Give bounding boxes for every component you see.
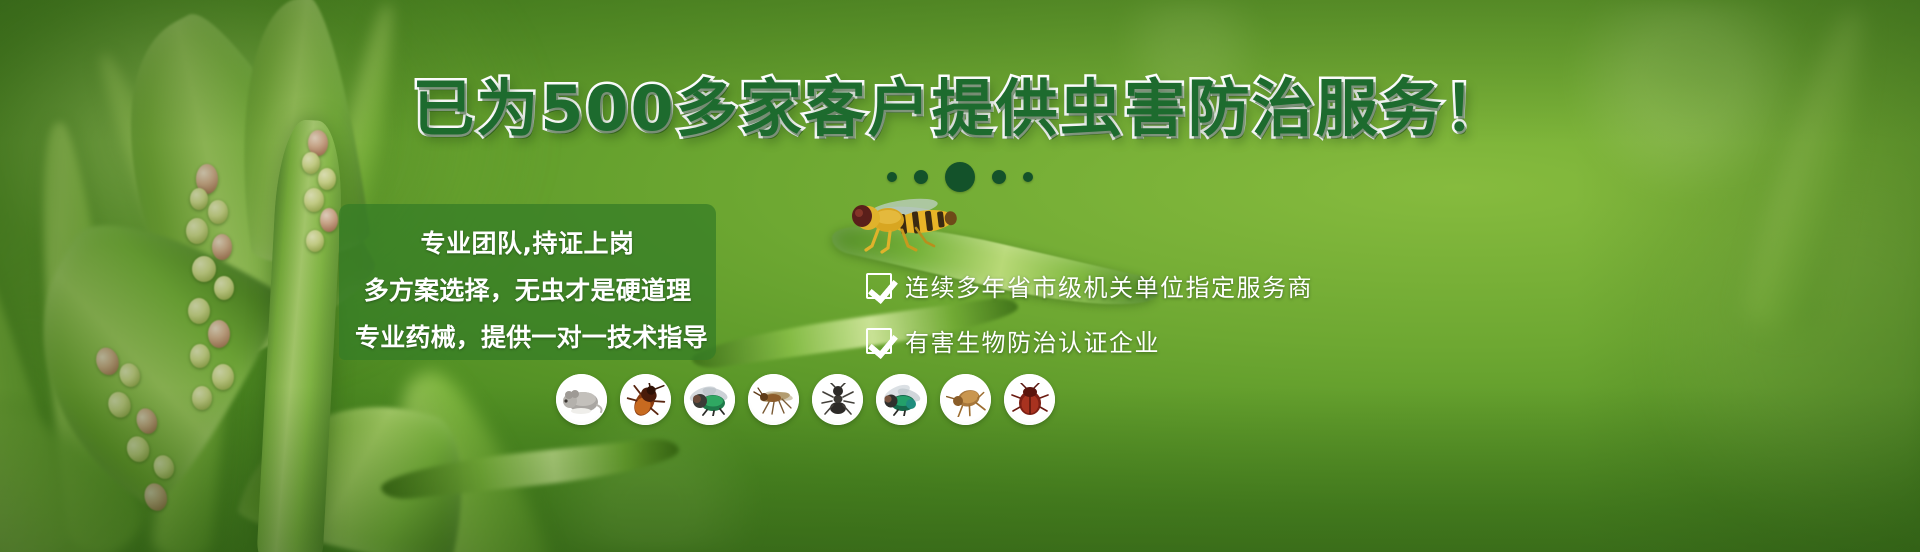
checkbox-checked-icon: [866, 328, 892, 354]
claim-row: 连续多年省市级机关单位指定服务商: [866, 268, 1313, 303]
selling-point-line-1: 专业团队,持证上岗: [355, 224, 700, 260]
pest-circle-ant[interactable]: [812, 374, 863, 425]
promo-banner: 已为500多家客户提供虫害防治服务！ 专业团队,持证上岗 多方案选择，无虫才是硬…: [0, 0, 1920, 552]
claim-text: 有害生物防治认证企业: [905, 323, 1160, 358]
pest-circle-blowfly[interactable]: [684, 374, 735, 425]
dot-small-left: [887, 172, 897, 182]
dot-small-right: [1023, 172, 1033, 182]
pest-circle-cockroach[interactable]: [620, 374, 671, 425]
blowfly-icon: [689, 384, 731, 416]
pest-circle-greenbottle-fly[interactable]: [876, 374, 927, 425]
pest-circle-flea[interactable]: [940, 374, 991, 425]
claims-list: 连续多年省市级机关单位指定服务商 有害生物防治认证企业: [866, 268, 1313, 358]
pest-circle-mouse[interactable]: [556, 374, 607, 425]
banner-headline: 已为500多家客户提供虫害防治服务！: [0, 78, 1920, 140]
pest-circle-mosquito[interactable]: [748, 374, 799, 425]
pest-circle-bedbug[interactable]: [1004, 374, 1055, 425]
checkbox-checked-icon: [866, 273, 892, 299]
decorative-dot-row: [0, 162, 1920, 192]
greenbottle-fly-icon: [881, 384, 923, 416]
pest-icon-row: [556, 374, 1055, 425]
hoverfly-icon: [838, 194, 968, 256]
claim-text: 连续多年省市级机关单位指定服务商: [905, 268, 1313, 303]
selling-point-line-2: 多方案选择，无虫才是硬道理: [355, 271, 700, 307]
selling-points-panel: 专业团队,持证上岗 多方案选择，无虫才是硬道理 专业药械，提供一对一技术指导: [339, 204, 716, 360]
claim-row: 有害生物防治认证企业: [866, 323, 1313, 358]
dot-medium-left: [914, 170, 928, 184]
dot-medium-right: [992, 170, 1006, 184]
mouse-icon: [561, 385, 603, 415]
banner-headline-text: 已为500多家客户提供虫害防治服务！: [412, 78, 1507, 140]
dot-large-center: [945, 162, 975, 192]
mosquito-icon: [753, 384, 795, 416]
cockroach-icon: [626, 383, 666, 417]
selling-point-line-3: 专业药械，提供一对一技术指导: [355, 318, 700, 354]
flea-icon: [946, 383, 986, 417]
bedbug-icon: [1011, 383, 1049, 417]
ant-icon: [818, 383, 858, 417]
